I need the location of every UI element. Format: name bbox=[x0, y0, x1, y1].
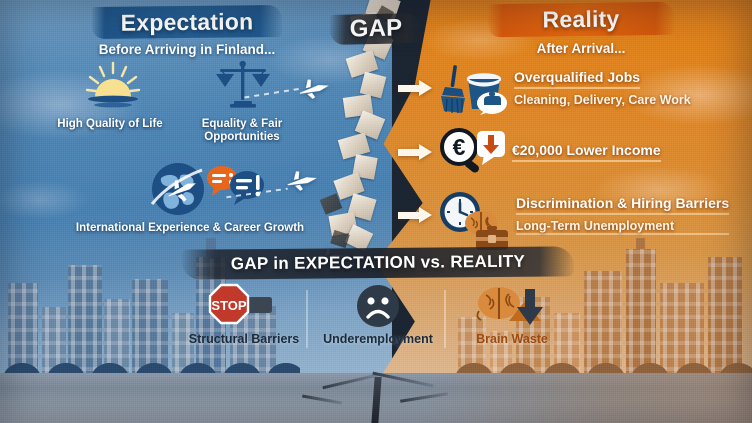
ground-warm-tint bbox=[422, 373, 752, 423]
arrow-right-icon bbox=[398, 80, 432, 96]
reality-row-discrimination: Discrimination & Hiring Barriers Long-Te… bbox=[398, 186, 748, 244]
broom-icon bbox=[441, 65, 465, 113]
reality-row-lower-income: € €20,000 Lower Income bbox=[398, 128, 748, 176]
svg-text:STOP: STOP bbox=[211, 298, 246, 313]
expectation-banner-label: Expectation bbox=[121, 8, 254, 36]
down-arrow-speech-bubble-icon bbox=[477, 131, 505, 165]
bottom-consequences-strip: STOP Structural Barriers Underemployment bbox=[178, 282, 578, 358]
row1-icon-group bbox=[436, 63, 508, 113]
expectation-subtitle: Before Arriving in Finland... bbox=[84, 42, 290, 57]
gap-banner-label: GAP bbox=[349, 14, 402, 43]
reality-banner: Reality bbox=[488, 2, 674, 38]
brain-down-arrow-icon bbox=[446, 282, 578, 330]
reality-row-overqualified-jobs: Overqualified Jobs Cleaning, Delivery, C… bbox=[398, 62, 748, 114]
reality-subtitle: After Arrival... bbox=[498, 41, 664, 56]
bottom-divider bbox=[306, 290, 308, 348]
chat-bubble-icon bbox=[198, 162, 268, 212]
bottom-cell-underemployment: Underemployment bbox=[312, 282, 444, 346]
feature-label-international: International Experience & Career Growth bbox=[56, 222, 324, 235]
arrow-right-icon bbox=[398, 207, 432, 223]
gap-banner: GAP bbox=[330, 13, 423, 45]
iron-speech-bubble-icon bbox=[477, 92, 507, 115]
bottom-label-structural-barriers: Structural Barriers bbox=[178, 332, 310, 346]
bottom-gap-banner-label: GAP in EXPECTATION vs. REALITY bbox=[231, 252, 525, 275]
row1-secondary-label: Cleaning, Delivery, Care Work bbox=[514, 93, 691, 107]
bottom-cell-brain-waste: Brain Waste bbox=[446, 282, 578, 346]
row2-primary-label: €20,000 Lower Income bbox=[512, 142, 661, 162]
svg-text:€: € bbox=[453, 134, 466, 160]
row2-text-block: €20,000 Lower Income bbox=[512, 142, 661, 162]
row3-secondary-label: Long-Term Unemployment bbox=[516, 219, 729, 235]
row3-icon-group bbox=[436, 190, 510, 240]
sunrise-icon bbox=[86, 62, 140, 110]
row1-primary-label: Overqualified Jobs bbox=[514, 69, 640, 89]
sad-face-icon bbox=[312, 282, 444, 330]
stop-sign-barrier-icon: STOP bbox=[178, 282, 310, 330]
bottom-gap-banner: GAP in EXPECTATION vs. REALITY bbox=[182, 246, 574, 279]
bottom-label-underemployment: Underemployment bbox=[312, 332, 444, 346]
bottom-label-brain-waste: Brain Waste bbox=[446, 332, 578, 346]
reality-banner-label: Reality bbox=[542, 5, 619, 33]
feature-label-equality: Equality & FairOpportunities bbox=[180, 118, 304, 144]
row3-primary-label: Discrimination & Hiring Barriers bbox=[516, 195, 729, 215]
feature-label-quality-of-life: High Quality of Life bbox=[46, 118, 174, 131]
row3-text-block: Discrimination & Hiring Barriers Long-Te… bbox=[516, 195, 729, 235]
balance-scale-icon bbox=[214, 60, 272, 112]
row2-icon-group: € bbox=[436, 127, 506, 177]
row1-text-block: Overqualified Jobs Cleaning, Delivery, C… bbox=[514, 69, 691, 107]
infographic-canvas: Expectation Before Arriving in Finland..… bbox=[0, 0, 752, 423]
bottom-cell-structural-barriers: STOP Structural Barriers bbox=[178, 282, 310, 346]
arrow-right-icon bbox=[398, 144, 432, 160]
euro-magnifier-icon: € bbox=[442, 130, 481, 174]
expectation-banner: Expectation bbox=[92, 5, 282, 39]
